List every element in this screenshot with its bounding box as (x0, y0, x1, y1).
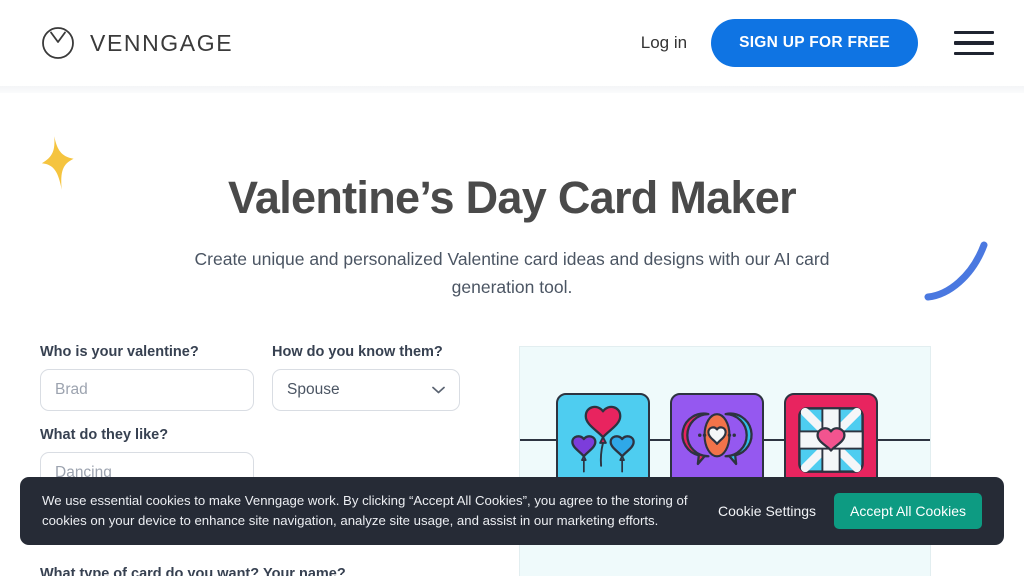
relationship-selected-value: Spouse (287, 381, 340, 399)
gift-box-card[interactable] (784, 393, 878, 487)
gift-box-heart-icon (786, 395, 876, 485)
cookie-consent-banner: We use essential cookies to make Venngag… (20, 477, 1004, 545)
valentine-name-input[interactable] (40, 369, 254, 411)
page-root: VENNGAGE Log in SIGN UP FOR FREE Valenti… (0, 0, 1024, 576)
page-subtitle: Create unique and personalized Valentine… (157, 245, 867, 302)
field-valentine: Who is your valentine? (40, 344, 254, 411)
venn-circle-icon (40, 25, 76, 61)
hamburger-bar (954, 52, 994, 56)
brand-logo[interactable]: VENNGAGE (40, 25, 233, 61)
brand-name: VENNGAGE (90, 30, 233, 57)
hero-section: Valentine’s Day Card Maker Create unique… (0, 93, 1024, 301)
accept-all-cookies-button[interactable]: Accept All Cookies (834, 493, 982, 529)
signup-button[interactable]: SIGN UP FOR FREE (711, 19, 918, 67)
header-divider (0, 86, 1024, 93)
form-row-1: Who is your valentine? How do you know t… (40, 344, 485, 411)
field-label-extra: Your name? (263, 566, 346, 576)
header-nav: Log in SIGN UP FOR FREE (641, 19, 994, 67)
heart-balloons-icon (558, 395, 648, 485)
field-label-likes: What do they like? (40, 427, 254, 443)
hamburger-bar (954, 41, 994, 45)
field-label-occasion: What type of card do you want? (40, 566, 259, 576)
hamburger-bar (954, 31, 994, 35)
field-label-relationship: How do you know them? (272, 344, 460, 360)
cookie-settings-button[interactable]: Cookie Settings (718, 503, 816, 519)
card-generator-form: Who is your valentine? How do you know t… (40, 344, 485, 494)
preview-card-list (556, 393, 878, 487)
hamburger-menu-icon[interactable] (954, 28, 994, 58)
chevron-down-icon (432, 386, 445, 394)
blue-brush-stroke-icon (922, 233, 1004, 305)
site-header: VENNGAGE Log in SIGN UP FOR FREE (0, 0, 1024, 86)
cookie-actions: Cookie Settings Accept All Cookies (718, 493, 982, 529)
sparkle-decoration-icon (38, 134, 80, 194)
cookie-message: We use essential cookies to make Venngag… (42, 491, 714, 532)
login-link[interactable]: Log in (641, 33, 687, 53)
page-title: Valentine’s Day Card Maker (0, 173, 1024, 223)
heart-balloons-card[interactable] (556, 393, 650, 487)
relationship-select[interactable]: Spouse (272, 369, 460, 411)
field-label-valentine: Who is your valentine? (40, 344, 254, 360)
field-relationship: How do you know them? Spouse (272, 344, 460, 411)
speech-bubble-heart-icon (672, 395, 762, 485)
speech-bubbles-card[interactable] (670, 393, 764, 487)
